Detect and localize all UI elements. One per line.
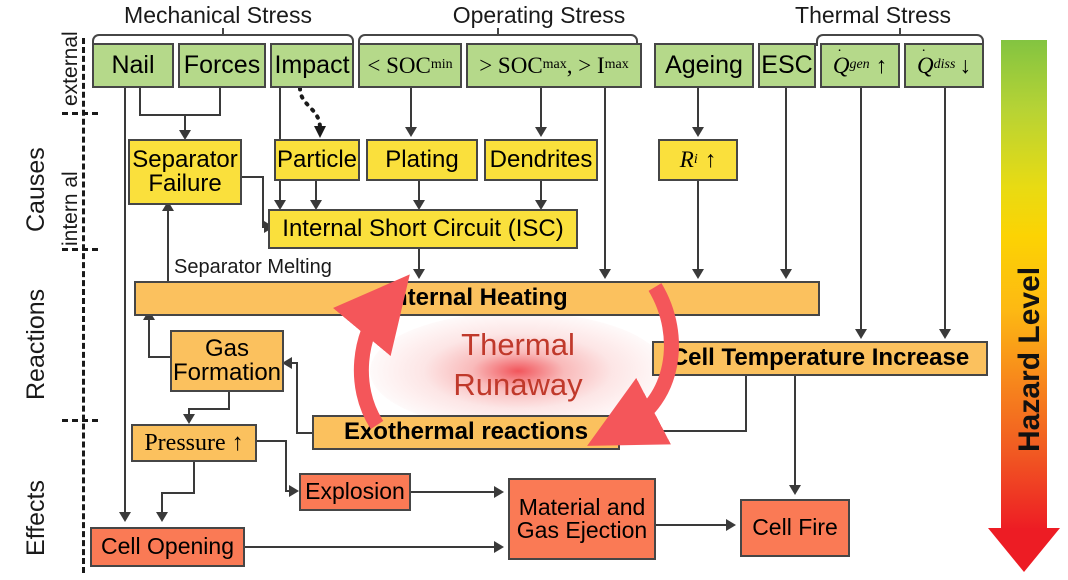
node-material-gas-ejection[interactable]: Material and Gas Ejection — [508, 478, 656, 560]
node-pressure[interactable]: Pressure ↑ — [131, 424, 257, 462]
edge-pressure-to-cellopen-v1 — [193, 462, 195, 494]
node-q-gen-arrow: ↑ — [870, 54, 888, 77]
axis-label-effects: Effects — [22, 480, 51, 556]
edge-nail-merge-down — [139, 88, 141, 116]
node-nail[interactable]: Nail — [92, 43, 174, 88]
edge-esc-to-internal-heating — [785, 88, 787, 271]
axis-divider-reactions-effects — [62, 419, 98, 422]
hazard-level-arrowhead — [988, 528, 1060, 572]
node-soc-max-subscript: max — [543, 58, 567, 72]
material-gas-ejection-line2: Gas Ejection — [517, 519, 647, 542]
arrow-pressure-to-cell-opening — [156, 512, 168, 522]
arrow-qgen-to-cell-temp — [855, 329, 867, 339]
edge-socmin-to-plating — [410, 88, 412, 128]
node-internal-short-circuit[interactable]: Internal Short Circuit (ISC) — [268, 209, 578, 249]
arrow-qdiss-to-cell-temp — [939, 329, 951, 339]
node-soc-max-imax[interactable]: > SOCmax, > Imax — [466, 43, 642, 88]
node-q-gen-symbol: ˙Q — [833, 54, 850, 77]
edge-pressure-to-explosion-v — [285, 440, 287, 492]
bracket-stem-operating — [497, 28, 499, 36]
node-soc-min-text: < SOC — [367, 54, 430, 77]
node-imax-text: , > I — [567, 54, 605, 77]
node-soc-min[interactable]: < SOCmin — [358, 43, 462, 88]
edge-separator-melting-up — [167, 210, 169, 258]
axis-divider-vertical — [82, 38, 85, 573]
arrow-pressure-to-explosion — [289, 485, 299, 497]
edge-isc-to-internal-heating — [418, 249, 420, 271]
separator-failure-line1: Separator — [132, 148, 237, 172]
axis-divider-external-internal — [62, 112, 98, 115]
arrow-celltemp-to-cellfire — [789, 485, 801, 495]
edge-socmax-to-dendrites — [540, 88, 542, 128]
gas-formation-line1: Gas — [205, 337, 249, 361]
edge-cellopening-to-ejection — [245, 546, 496, 548]
edge-pressure-to-explosion-h1 — [257, 440, 287, 442]
node-q-diss-subscript: diss — [934, 58, 956, 72]
edge-ejection-to-cellfire — [656, 524, 728, 526]
gas-formation-line2: Formation — [173, 361, 281, 385]
node-ri-symbol: R — [680, 148, 694, 171]
edge-separator-to-isc-h1 — [242, 176, 264, 178]
edge-exo-to-gas-v — [296, 362, 298, 434]
node-ageing[interactable]: Ageing — [654, 43, 754, 88]
edge-qdiss-to-cell-temp — [944, 88, 946, 331]
thermal-runaway-cycle-arrows — [355, 275, 695, 450]
node-plating[interactable]: Plating — [366, 139, 478, 181]
node-explosion[interactable]: Explosion — [299, 473, 411, 511]
edge-ageing-to-ri — [697, 88, 699, 128]
group-title-thermal: Thermal Stress — [768, 2, 978, 29]
node-imax-subscript: max — [605, 58, 629, 72]
node-q-gen-subscript: gen — [849, 58, 869, 72]
node-forces[interactable]: Forces — [178, 43, 266, 88]
edge-socmax-to-internal-heating — [604, 88, 606, 271]
arrow-cellopening-to-ejection — [494, 541, 504, 553]
label-separator-melting: Separator Melting — [172, 256, 334, 279]
arrow-ejection-to-cellfire — [726, 519, 736, 531]
edge-celltemp-to-exo-v — [745, 376, 747, 432]
node-separator-failure[interactable]: Separator Failure — [128, 139, 242, 205]
edge-merge-horizontal — [139, 114, 221, 116]
node-q-gen[interactable]: ˙Qgen↑ — [820, 43, 900, 88]
node-q-diss-symbol: ˙Q — [917, 54, 934, 77]
node-esc[interactable]: ESC — [758, 43, 816, 88]
axis-divider-causes-reactions — [62, 248, 98, 251]
axis-label-causes: Causes — [22, 147, 51, 232]
edge-pressure-to-cellopen-h — [161, 492, 195, 494]
node-cell-temperature-increase[interactable]: Cell Temperature Increase — [652, 341, 988, 376]
hazard-level-label: Hazard Level — [1013, 267, 1047, 452]
node-particle[interactable]: Particle — [274, 139, 360, 181]
separator-failure-line2: Failure — [148, 172, 221, 196]
thermal-runaway-diagram: Mechanical Stress Operating Stress Therm… — [0, 0, 1068, 580]
bracket-stem-thermal — [899, 28, 901, 36]
node-cell-fire[interactable]: Cell Fire — [740, 499, 850, 557]
edge-celltemp-to-cellfire — [794, 376, 796, 486]
edge-forces-merge-down — [219, 88, 221, 116]
arrow-socmax-to-dendrites — [535, 127, 547, 137]
edge-ri-to-internal-heating — [697, 181, 699, 271]
arrow-ageing-to-ri — [692, 127, 704, 137]
node-dendrites[interactable]: Dendrites — [484, 139, 598, 181]
node-ri[interactable]: Ri↑ — [658, 139, 738, 181]
arrow-nail-to-cell-opening — [119, 512, 131, 522]
edge-nail-to-cell-opening — [124, 88, 126, 513]
bracket-stem-mechanical — [222, 28, 224, 36]
arrow-explosion-to-ejection — [494, 486, 504, 498]
edge-explosion-to-ejection — [411, 491, 496, 493]
edge-separator-melting-v — [167, 254, 169, 282]
node-soc-min-subscript: min — [431, 58, 453, 72]
group-title-mechanical: Mechanical Stress — [98, 2, 338, 29]
edge-gas-feedback-h — [148, 356, 172, 358]
node-cell-opening[interactable]: Cell Opening — [90, 527, 245, 567]
edge-gas-to-pressure-h — [188, 408, 230, 410]
axis-label-causes-external: external — [59, 31, 83, 106]
edge-qgen-to-cell-temp — [860, 88, 862, 331]
node-q-diss[interactable]: ˙Qdiss↓ — [904, 43, 984, 88]
axis-label-reactions: Reactions — [22, 289, 51, 400]
axis-label-causes-internal: intern al — [59, 171, 83, 246]
group-title-operating: Operating Stress — [424, 2, 654, 29]
edge-gas-feedback-v — [148, 318, 150, 358]
node-impact[interactable]: Impact — [270, 43, 354, 88]
arrow-gas-to-pressure — [183, 414, 195, 424]
node-soc-max-text: > SOC — [479, 54, 542, 77]
node-gas-formation[interactable]: Gas Formation — [170, 330, 284, 392]
material-gas-ejection-line1: Material and — [519, 496, 646, 519]
node-q-diss-arrow: ↓ — [955, 54, 971, 77]
edge-impact-to-particle-dotted — [296, 88, 336, 140]
edge-pressure-to-cellopen-v2 — [161, 492, 163, 514]
arrow-socmin-to-plating — [405, 127, 417, 137]
arrow-esc-to-internal-heating — [780, 269, 792, 279]
node-ri-arrow: ↑ — [698, 148, 717, 171]
